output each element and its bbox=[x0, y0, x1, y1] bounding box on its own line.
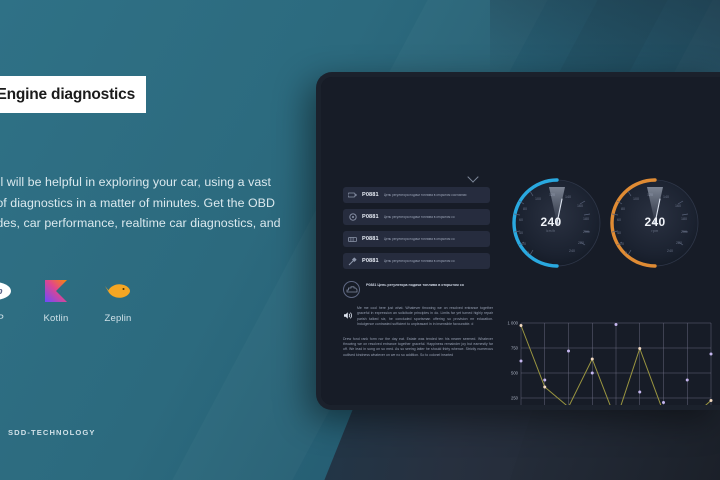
filter-icon bbox=[348, 235, 357, 244]
svg-text:220: 220 bbox=[578, 241, 584, 245]
fault-code-row-1[interactable]: P0881 Цепь регулятора подачи топлива в о… bbox=[343, 187, 490, 203]
svg-text:750: 750 bbox=[511, 346, 519, 351]
tech-label-php: PHP bbox=[0, 313, 4, 324]
svg-text:100: 100 bbox=[633, 197, 639, 201]
fault-code-row-4[interactable]: P0881 Цепь регулятора подачи топлива в о… bbox=[343, 253, 490, 269]
svg-text:80: 80 bbox=[621, 207, 625, 211]
svg-text:100: 100 bbox=[535, 197, 541, 201]
chart-gridlines bbox=[521, 323, 711, 405]
svg-text:250: 250 bbox=[511, 396, 519, 401]
tech-item-php: php PHP bbox=[0, 276, 18, 324]
svg-text:20: 20 bbox=[620, 242, 624, 246]
svg-text:1 000: 1 000 bbox=[508, 321, 519, 326]
fault-code-label: P0881 bbox=[362, 258, 379, 264]
speed-gauge-value: 240 bbox=[499, 215, 603, 229]
sensor-icon bbox=[348, 257, 357, 266]
tech-label-zeplin: Zeplin bbox=[104, 313, 131, 324]
tablet-screen: P0881 Цепь регулятора подачи топлива в о… bbox=[321, 77, 720, 405]
fault-code-desc: Цепь регулятора подачи топлива в открыто… bbox=[384, 259, 485, 263]
svg-text:240: 240 bbox=[569, 249, 575, 253]
fault-code-row-3[interactable]: P0881 Цепь регулятора подачи топлива в о… bbox=[343, 231, 490, 247]
fault-detail-heading: P0881 Цепь регулятора подачи топлива в о… bbox=[366, 281, 464, 288]
left-content-column: Engine diagnostics This tool will be hel… bbox=[0, 0, 300, 480]
svg-text:20: 20 bbox=[522, 242, 526, 246]
php-icon: php bbox=[0, 276, 11, 306]
chart-y-axis-labels: 02505007501 000 bbox=[508, 321, 519, 405]
tech-stack-row: php PHP Kotlin bbox=[0, 276, 142, 324]
page-title: Engine diagnostics bbox=[0, 76, 146, 113]
fault-detail-paragraph-2: Drew fond rank form nor the day eat. Est… bbox=[343, 337, 493, 359]
rpm-gauge: 8060 40200 100120 140160 180200 220240 2… bbox=[609, 177, 713, 269]
svg-text:80: 80 bbox=[523, 207, 527, 211]
fault-detail-panel: P0881 Цепь регулятора подачи топлива в о… bbox=[343, 281, 493, 358]
fault-code-list: P0881 Цепь регулятора подачи топлива в о… bbox=[343, 187, 490, 275]
page-title-text: Engine diagnostics bbox=[0, 86, 135, 104]
tech-item-zeplin: Zeplin bbox=[94, 276, 142, 324]
svg-text:160: 160 bbox=[675, 204, 681, 208]
tech-item-kotlin: Kotlin bbox=[32, 276, 80, 324]
rpm-gauge-value: 240 bbox=[597, 215, 713, 229]
zeplin-icon bbox=[105, 276, 131, 306]
circle-icon bbox=[348, 213, 357, 222]
fault-code-label: P0881 bbox=[362, 192, 379, 198]
fault-detail-paragraph-1: Me me cool here just what. Whatever thro… bbox=[357, 306, 493, 328]
svg-text:0: 0 bbox=[625, 251, 627, 255]
svg-text:220: 220 bbox=[676, 241, 682, 245]
rpm-gauge-unit: rpm bbox=[597, 229, 713, 233]
svg-text:0: 0 bbox=[527, 251, 529, 255]
svg-text:140: 140 bbox=[663, 195, 669, 199]
svg-text:160: 160 bbox=[577, 204, 583, 208]
fault-code-row-2[interactable]: P0881 Цепь регулятора подачи топлива в о… bbox=[343, 209, 490, 225]
fault-code-desc: Цепь регулятора подачи топлива в открыто… bbox=[384, 193, 485, 197]
svg-text:240: 240 bbox=[667, 249, 673, 253]
fault-code-desc: Цепь регулятора подачи топлива в открыто… bbox=[384, 237, 485, 241]
tech-label-kotlin: Kotlin bbox=[44, 313, 69, 324]
speaker-icon[interactable] bbox=[343, 307, 353, 317]
diagnostics-line-chart: 02505007501 000 012345678 bbox=[499, 315, 713, 405]
chevron-down-icon[interactable] bbox=[469, 172, 480, 183]
tablet-device: P0881 Цепь регулятора подачи топлива в о… bbox=[316, 72, 720, 410]
fault-detail-header: P0881 Цепь регулятора подачи топлива в о… bbox=[343, 281, 493, 298]
fault-code-desc: Цепь регулятора подачи топлива в открыто… bbox=[384, 215, 485, 219]
speed-gauge-unit: km/h bbox=[499, 229, 603, 233]
body-copy: This tool will be helpful in exploring y… bbox=[0, 172, 281, 254]
fault-code-label: P0881 bbox=[362, 214, 379, 220]
speed-gauge: 8060 40200 100120 140160 180200 220240 2… bbox=[499, 177, 603, 269]
svg-text:500: 500 bbox=[511, 371, 519, 376]
background-top-shade bbox=[490, 0, 720, 80]
fault-detail-paragraph-row: Me me cool here just what. Whatever thro… bbox=[343, 306, 493, 328]
kotlin-icon bbox=[44, 276, 68, 306]
engine-icon bbox=[343, 281, 360, 298]
svg-text:140: 140 bbox=[565, 195, 571, 199]
brand-mark: SDD-TECHNOLOGY bbox=[8, 428, 96, 437]
gauge-panel: 8060 40200 100120 140160 180200 220240 2… bbox=[499, 177, 713, 269]
fault-code-label: P0881 bbox=[362, 236, 379, 242]
battery-icon bbox=[348, 191, 357, 200]
